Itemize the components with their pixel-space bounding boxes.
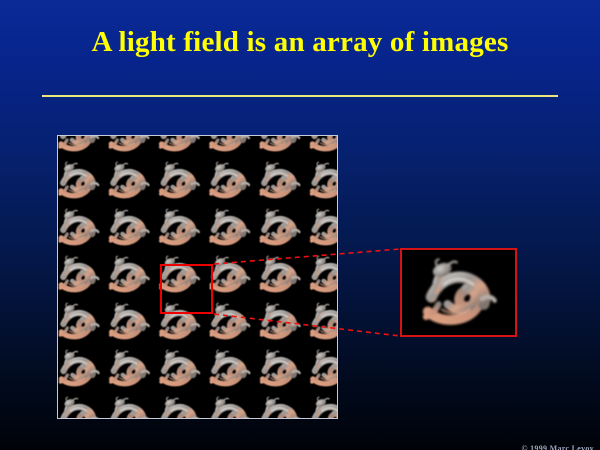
- array-tile[interactable]: [57, 392, 104, 419]
- dragon-thumbnail: [57, 157, 104, 204]
- dragon-thumbnail: [104, 157, 154, 204]
- dragon-thumbnail: [254, 157, 304, 204]
- array-tile[interactable]: [304, 135, 338, 157]
- array-tile[interactable]: [304, 298, 338, 345]
- dragon-thumbnail: [254, 251, 304, 298]
- array-tile[interactable]: [104, 157, 154, 204]
- array-tile[interactable]: [254, 157, 304, 204]
- array-tile[interactable]: [254, 204, 304, 251]
- array-tile[interactable]: [57, 157, 104, 204]
- array-tile[interactable]: [304, 251, 338, 298]
- dragon-thumbnail: [57, 135, 104, 157]
- dragon-thumbnail: [104, 298, 154, 345]
- array-tile[interactable]: [57, 204, 104, 251]
- array-tile[interactable]: [304, 345, 338, 392]
- array-tile[interactable]: [254, 392, 304, 419]
- array-tile[interactable]: [57, 135, 104, 157]
- dragon-thumbnail: [104, 392, 154, 419]
- array-tile[interactable]: [104, 392, 154, 419]
- array-tile[interactable]: [204, 345, 254, 392]
- dragon-thumbnail: [154, 204, 204, 251]
- array-tile[interactable]: [154, 204, 204, 251]
- dragon-thumbnail: [204, 157, 254, 204]
- array-tile[interactable]: [154, 392, 204, 419]
- selection-box[interactable]: [160, 264, 213, 314]
- detail-image: [402, 250, 515, 335]
- dragon-thumbnail: [154, 135, 204, 157]
- array-tile[interactable]: [104, 135, 154, 157]
- slide-canvas: A light field is an array of images: [0, 0, 600, 450]
- array-tile[interactable]: [304, 157, 338, 204]
- array-tile[interactable]: [57, 345, 104, 392]
- array-tile[interactable]: [154, 157, 204, 204]
- title-divider-rule: [42, 95, 558, 97]
- dragon-thumbnail: [154, 345, 204, 392]
- array-tile[interactable]: [304, 392, 338, 419]
- dragon-thumbnail: [204, 392, 254, 419]
- page-title: A light field is an array of images: [0, 26, 600, 59]
- array-tile[interactable]: [204, 204, 254, 251]
- copyright-credit: © 1999 Marc Levoy: [522, 444, 594, 450]
- array-tile[interactable]: [154, 135, 204, 157]
- dragon-thumbnail: [57, 298, 104, 345]
- array-tile[interactable]: [254, 135, 304, 157]
- dragon-thumbnail: [154, 157, 204, 204]
- dragon-thumbnail: [254, 392, 304, 419]
- dragon-thumbnail: [104, 135, 154, 157]
- dragon-thumbnail: [254, 135, 304, 157]
- dragon-thumbnail: [304, 298, 338, 345]
- array-tile[interactable]: [204, 135, 254, 157]
- array-tile[interactable]: [57, 251, 104, 298]
- array-tile[interactable]: [154, 345, 204, 392]
- array-tile[interactable]: [104, 345, 154, 392]
- dragon-thumbnail: [154, 392, 204, 419]
- array-tile[interactable]: [254, 251, 304, 298]
- dragon-thumbnail: [104, 204, 154, 251]
- dragon-thumbnail: [402, 250, 515, 335]
- dragon-thumbnail: [304, 392, 338, 419]
- array-tile[interactable]: [104, 204, 154, 251]
- dragon-thumbnail: [304, 345, 338, 392]
- array-tile[interactable]: [204, 392, 254, 419]
- dragon-thumbnail: [57, 251, 104, 298]
- array-tile[interactable]: [204, 157, 254, 204]
- enlarged-sub-image[interactable]: [400, 248, 517, 337]
- dragon-thumbnail: [57, 204, 104, 251]
- array-tile[interactable]: [104, 298, 154, 345]
- dragon-thumbnail: [204, 204, 254, 251]
- dragon-thumbnail: [104, 345, 154, 392]
- dragon-thumbnail: [304, 157, 338, 204]
- dragon-thumbnail: [57, 345, 104, 392]
- dragon-thumbnail: [204, 345, 254, 392]
- array-tile[interactable]: [104, 251, 154, 298]
- dragon-thumbnail: [104, 251, 154, 298]
- array-tile[interactable]: [254, 298, 304, 345]
- dragon-thumbnail: [304, 251, 338, 298]
- dragon-thumbnail: [254, 345, 304, 392]
- dragon-thumbnail: [254, 204, 304, 251]
- dragon-thumbnail: [57, 392, 104, 419]
- array-tile[interactable]: [57, 298, 104, 345]
- dragon-thumbnail: [304, 135, 338, 157]
- dragon-thumbnail: [254, 298, 304, 345]
- array-tile[interactable]: [254, 345, 304, 392]
- dragon-thumbnail: [304, 204, 338, 251]
- dragon-thumbnail: [204, 135, 254, 157]
- array-tile[interactable]: [304, 204, 338, 251]
